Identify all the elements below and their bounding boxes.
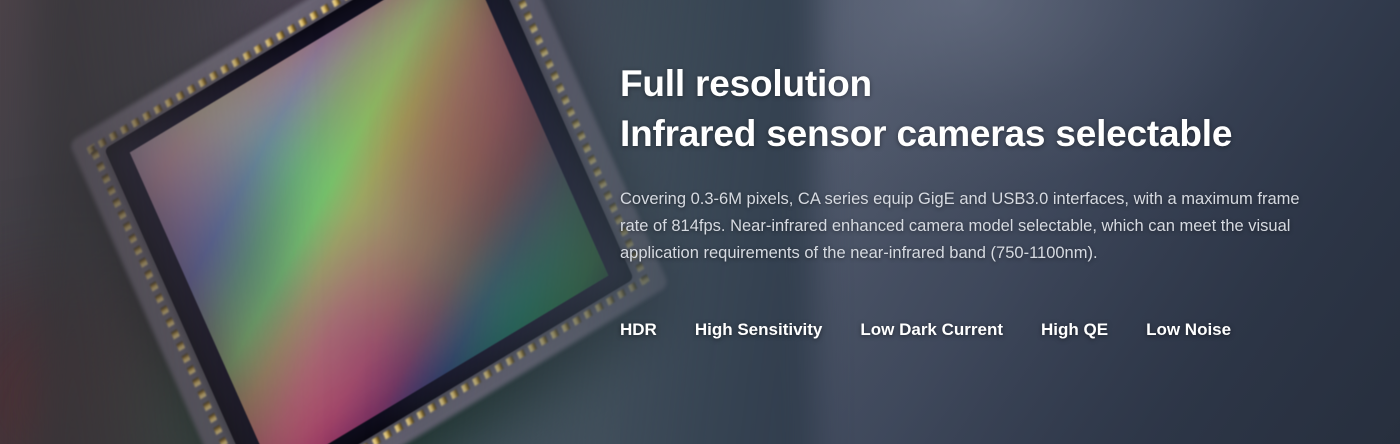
product-hero-banner: Full resolution Infrared sensor cameras … (0, 0, 1400, 444)
page-title: Full resolution Infrared sensor cameras … (620, 59, 1232, 159)
hero-description: Covering 0.3-6M pixels, CA series equip … (620, 186, 1326, 267)
feature-tag-low-dark-current: Low Dark Current (860, 320, 1003, 340)
feature-tag-high-sensitivity: High Sensitivity (695, 320, 823, 340)
feature-tag-high-qe: High QE (1041, 320, 1108, 340)
feature-tag-hdr: HDR (620, 320, 657, 340)
hero-content: Full resolution Infrared sensor cameras … (620, 0, 1340, 444)
chip-left-defocus (36, 0, 296, 444)
feature-tag-low-noise: Low Noise (1146, 320, 1231, 340)
feature-tag-list: HDR High Sensitivity Low Dark Current Hi… (620, 320, 1231, 340)
headline-line-1: Full resolution (620, 59, 1232, 109)
headline-line-2: Infrared sensor cameras selectable (620, 109, 1232, 159)
sensor-chip-image (96, 0, 656, 444)
